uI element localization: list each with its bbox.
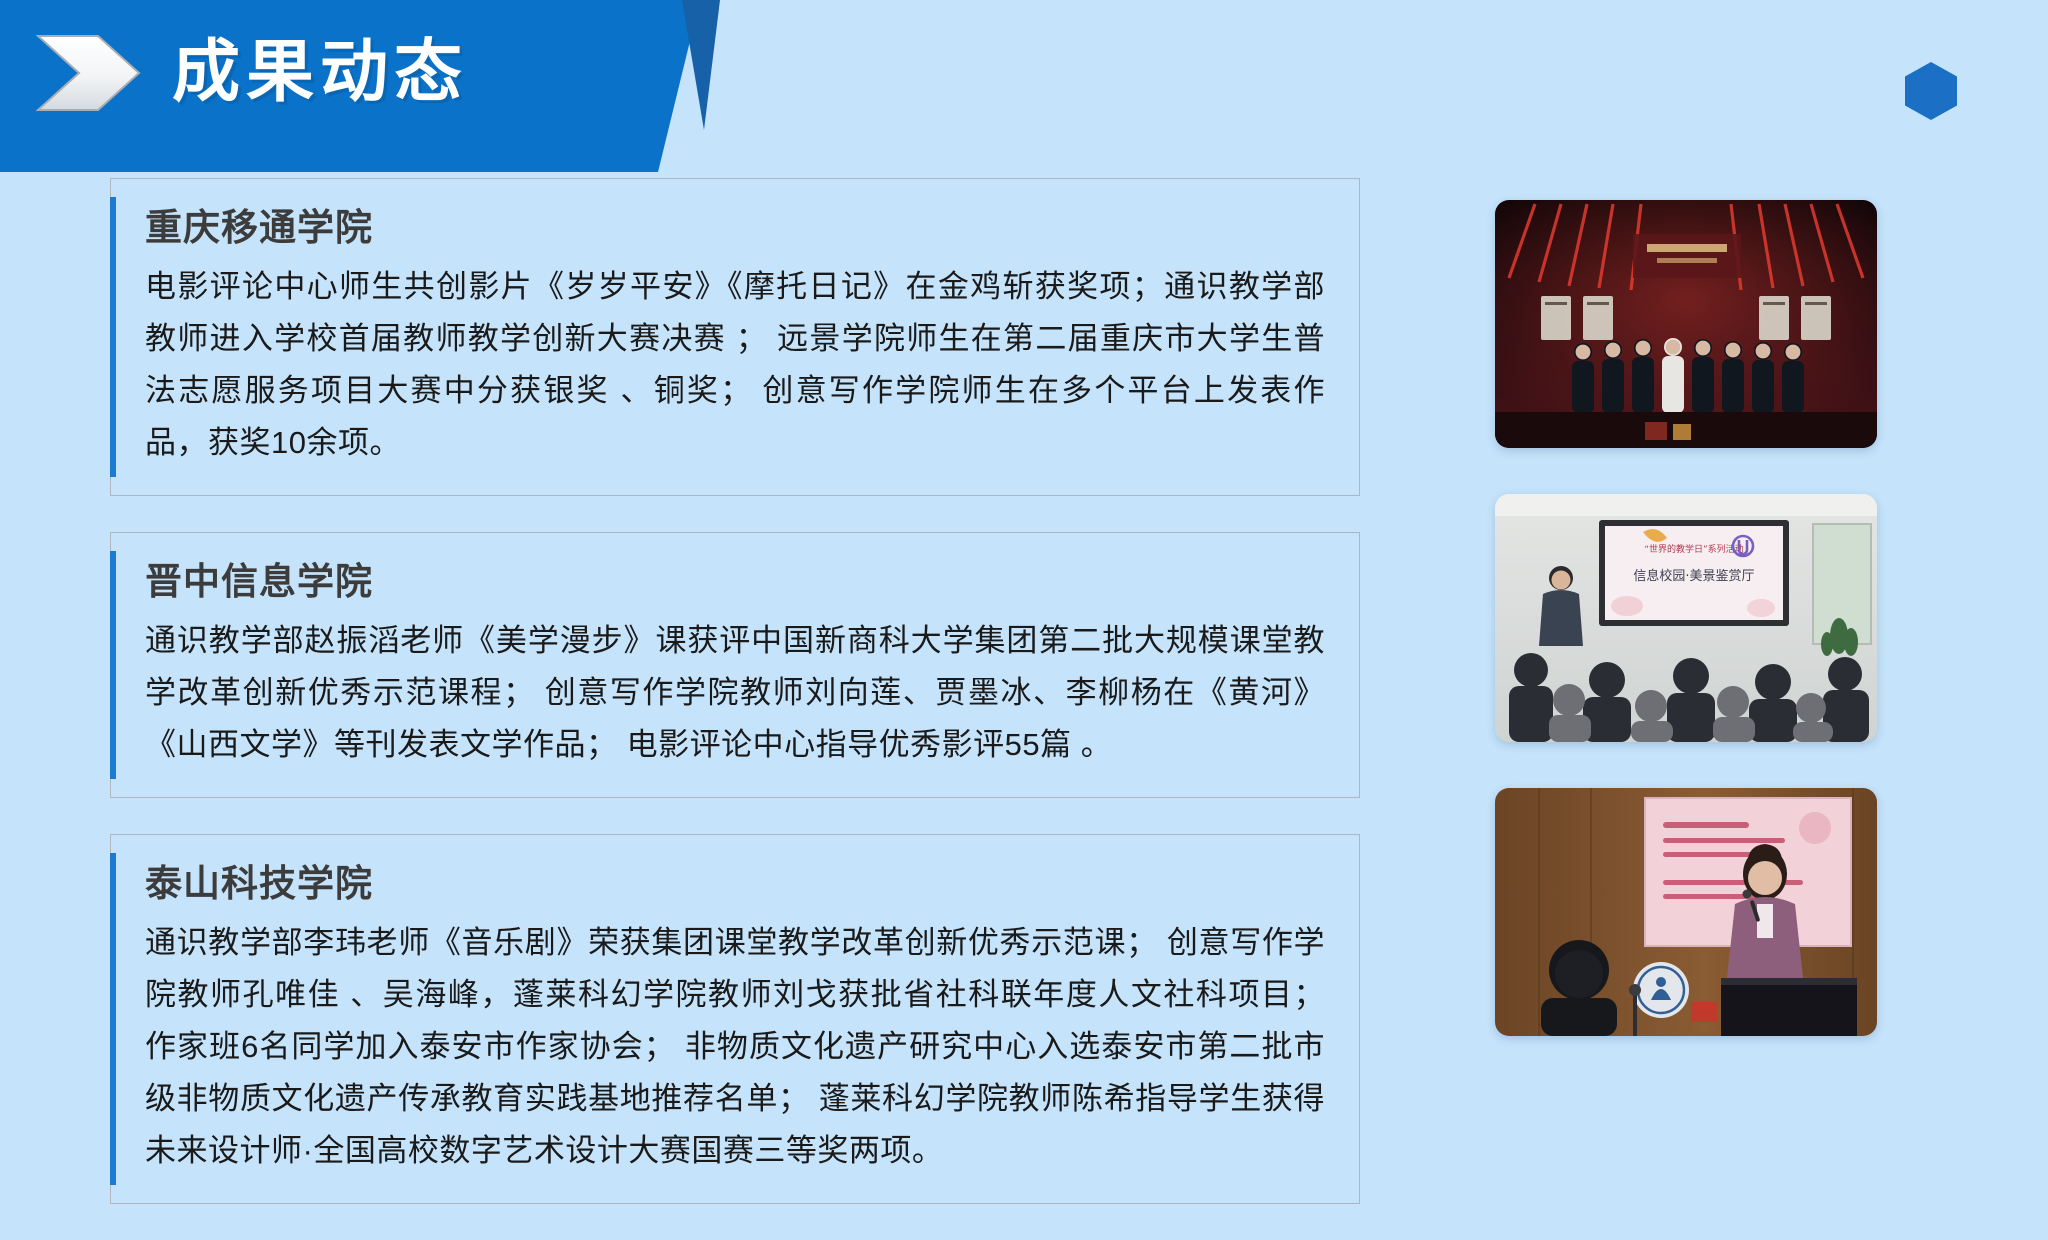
- card-accent-bar: [110, 197, 116, 477]
- card-title: 晋中信息学院: [145, 555, 1325, 609]
- svg-text:“世界的教学日”系列活动: “世界的教学日”系列活动: [1644, 543, 1743, 555]
- card-body: 电影评论中心师生共创影片《岁岁平安》《摩托日记》在金鸡斩获奖项；通识教学部教师进…: [145, 261, 1325, 469]
- card-body: 通识教学部赵振滔老师《美学漫步》课获评中国新商科大学集团第二批大规模课堂教学改革…: [145, 615, 1325, 771]
- svg-text:信息校园·美景鉴赏厅: 信息校园·美景鉴赏厅: [1633, 568, 1754, 584]
- card-title: 重庆移通学院: [145, 201, 1325, 255]
- card-accent-bar: [110, 551, 116, 779]
- classroom-lecture-photo: “世界的教学日”系列活动 信息校园·美景鉴赏厅: [1495, 494, 1877, 742]
- card-body: 通识教学部李玮老师《音乐剧》荣获集团课堂教学改革创新优秀示范课； 创意写作学院教…: [145, 917, 1325, 1177]
- card-title: 泰山科技学院: [145, 857, 1325, 911]
- hexagon-icon: [1905, 62, 1957, 120]
- chevron-right-icon: [36, 34, 141, 112]
- card-jinzhong-xinxi: 晋中信息学院 通识教学部赵振滔老师《美学漫步》课获评中国新商科大学集团第二批大规…: [110, 532, 1360, 798]
- banner-fold-accent: [682, 0, 722, 132]
- header-banner: 成果动态: [0, 0, 700, 172]
- photo-column: “世界的教学日”系列活动 信息校园·美景鉴赏厅: [1495, 200, 1885, 1082]
- speaker-podium-photo: [1495, 788, 1877, 1036]
- card-chongqing-yitong: 重庆移通学院 电影评论中心师生共创影片《岁岁平安》《摩托日记》在金鸡斩获奖项；通…: [110, 178, 1360, 496]
- card-accent-bar: [110, 853, 116, 1185]
- card-taishan-keji: 泰山科技学院 通识教学部李玮老师《音乐剧》荣获集团课堂教学改革创新优秀示范课； …: [110, 834, 1360, 1204]
- page-title: 成果动态: [172, 18, 468, 126]
- cards-column: 重庆移通学院 电影评论中心师生共创影片《岁岁平安》《摩托日记》在金鸡斩获奖项；通…: [110, 178, 1360, 1240]
- stage-award-ceremony-photo: [1495, 200, 1877, 448]
